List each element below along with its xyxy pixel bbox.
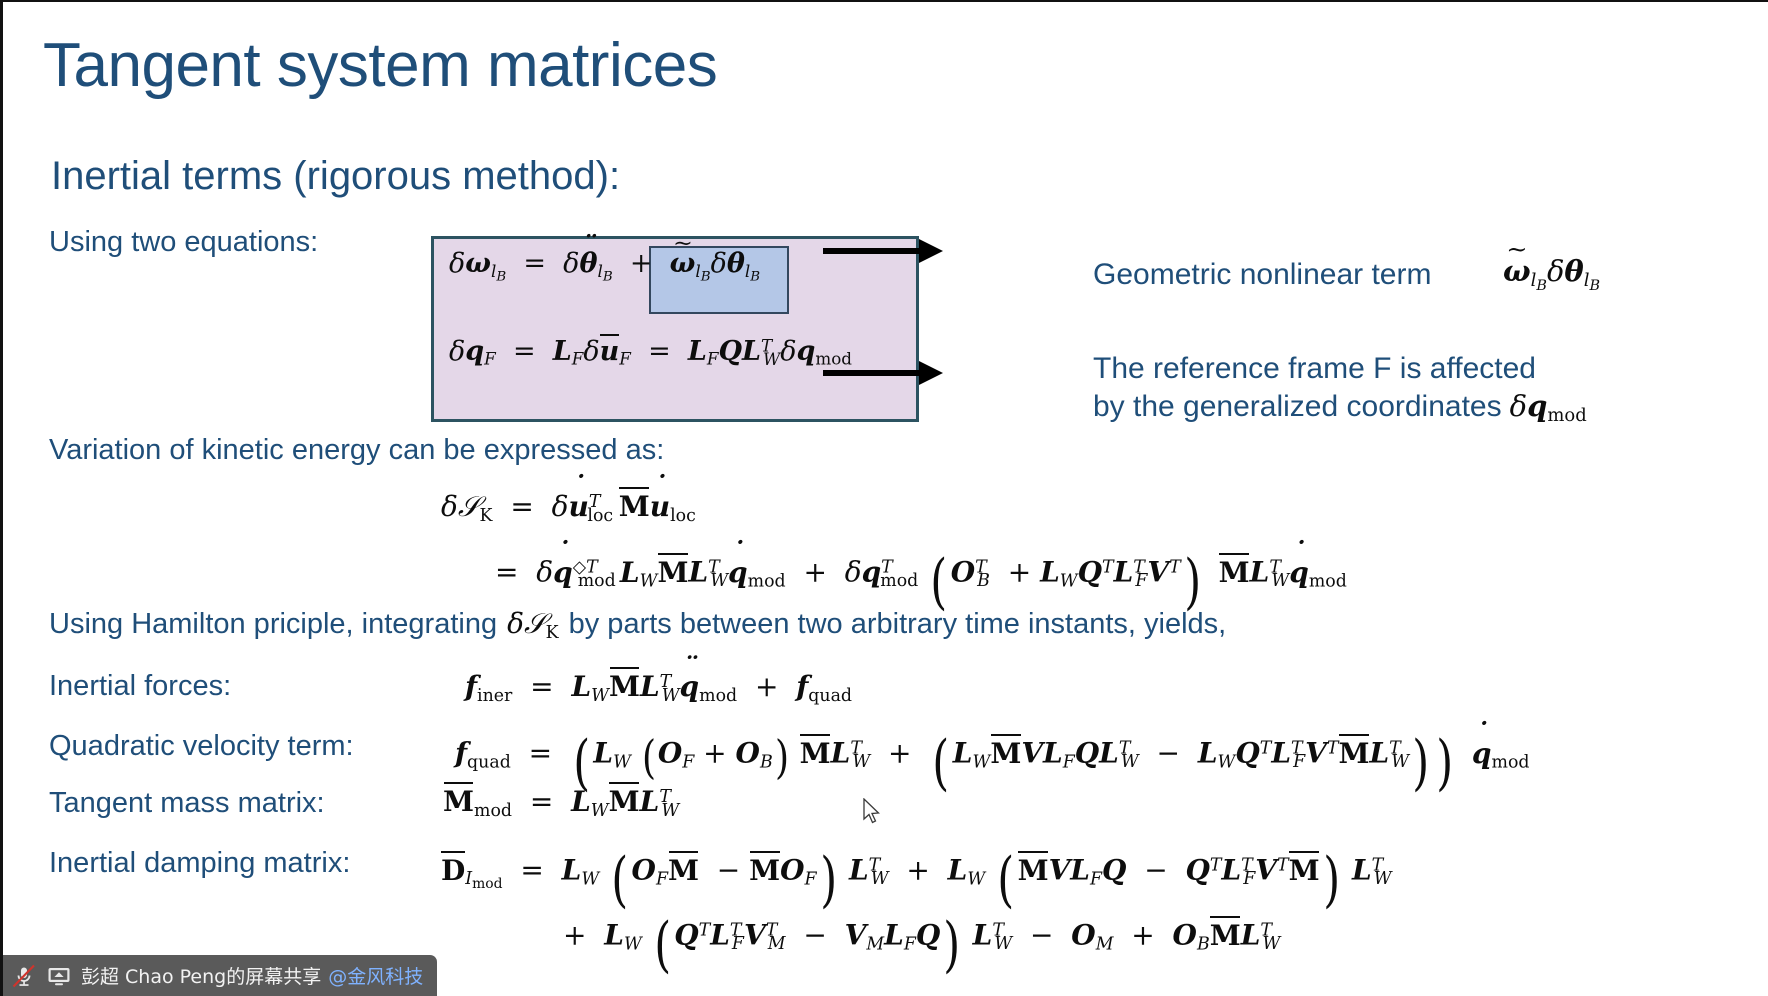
section-heading: Inertial terms (rigorous method): bbox=[51, 154, 620, 199]
equation-kinetic-line-1: δ𝒮K = δuTlocMuloc bbox=[441, 490, 696, 524]
screen-share-icon[interactable] bbox=[46, 963, 72, 989]
screen-share-status-bar[interactable]: 彭超 Chao Peng的屏幕共享 @金风科技 bbox=[3, 955, 437, 996]
annotation-geometric-nonlinear-term: Geometric nonlinear term bbox=[1093, 256, 1431, 294]
label-hamilton-principle: Using Hamilton priciple, integrating δ𝒮K… bbox=[49, 607, 1226, 641]
hamilton-math: δ𝒮K bbox=[507, 607, 559, 641]
presentation-slide-screen: Tangent system matrices Inertial terms (… bbox=[0, 0, 1768, 996]
share-presenter-label: 彭超 Chao Peng的屏幕共享 bbox=[81, 962, 321, 989]
label-inertial-damping-matrix: Inertial damping matrix: bbox=[49, 847, 350, 880]
equation-tangent-mass-matrix: Mmod = LWMLTW bbox=[443, 785, 679, 818]
annotation-geometric-math: ωlBδθlB bbox=[1503, 254, 1600, 288]
annotation-reference-frame-math: δqmod bbox=[1510, 388, 1587, 424]
page-title: Tangent system matrices bbox=[43, 30, 717, 101]
label-tangent-mass-matrix: Tangent mass matrix: bbox=[49, 787, 325, 820]
hamilton-after-text: by parts between two arbitrary time inst… bbox=[569, 608, 1227, 641]
annotation-reference-frame: The reference frame F is affected by the… bbox=[1093, 350, 1587, 425]
equation-boxed-1: δωlB = δθlB + ωlBδθlB bbox=[449, 248, 760, 279]
annotation-reference-frame-line2: by the generalized coordinates bbox=[1093, 388, 1502, 426]
label-quadratic-velocity-term: Quadratic velocity term: bbox=[49, 730, 354, 763]
annotation-reference-frame-line1: The reference frame F is affected bbox=[1093, 350, 1587, 388]
label-inertial-forces: Inertial forces: bbox=[49, 670, 231, 703]
annotation-geometric-text: Geometric nonlinear term bbox=[1093, 258, 1431, 291]
share-organization-label: @金风科技 bbox=[328, 962, 423, 989]
mouse-cursor bbox=[863, 798, 883, 826]
label-variation-kinetic-energy: Variation of kinetic energy can be expre… bbox=[49, 434, 664, 467]
equation-inertial-damping-line-2: + LW (QTLTFVTM − VMLFQ) LTW − OM + OBMLT… bbox=[563, 910, 1280, 980]
equation-inertial-forces: finer = LWMLTWqmod + fquad bbox=[465, 670, 852, 703]
label-using-two-equations: Using two equations: bbox=[49, 226, 318, 259]
equation-inertial-damping-line-1: DImod = LW (OFM − MOF) LTW + LW (MVLFQ −… bbox=[441, 845, 1392, 915]
hamilton-before-text: Using Hamilton priciple, integrating bbox=[49, 608, 497, 641]
microphone-muted-icon[interactable] bbox=[11, 963, 37, 989]
equation-boxed-2: δqF = LFδuF = LFQLTWδqmod bbox=[449, 336, 852, 367]
